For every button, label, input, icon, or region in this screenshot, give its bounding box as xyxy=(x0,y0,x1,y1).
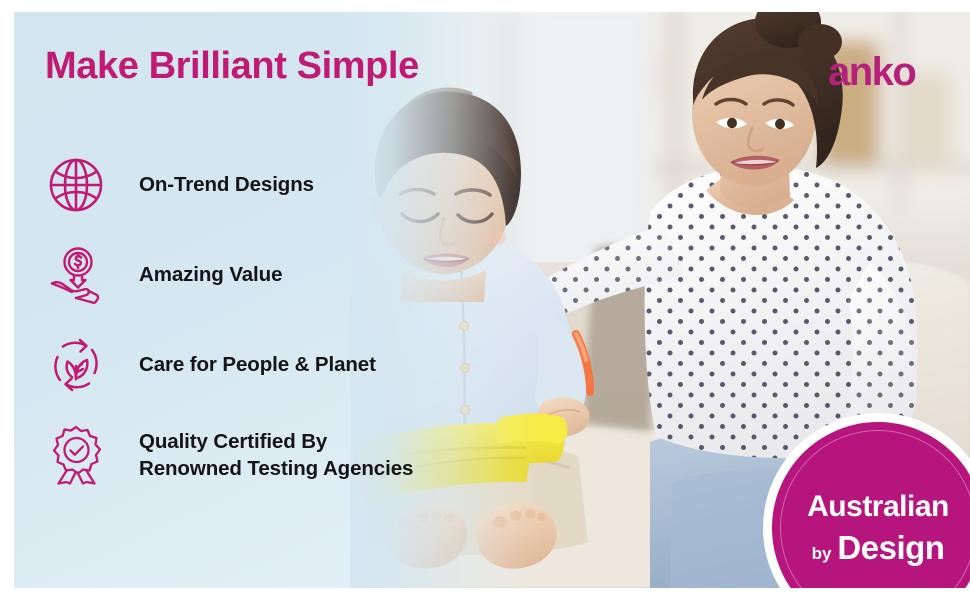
recycle-leaf-icon xyxy=(45,334,107,396)
anko-brand-banner: Make Brilliant Simple anko On-Tre xyxy=(0,0,970,600)
badge-word-design: Design xyxy=(837,531,944,564)
badge-line-by-design: by Design xyxy=(812,531,945,564)
feature-item-quality-certified: Quality Certified ByRenowned Testing Age… xyxy=(45,410,465,500)
badge-line-australian: Australian xyxy=(807,492,949,522)
badge-word-by: by xyxy=(812,545,832,562)
feature-list: On-Trend Designs Ama xyxy=(45,140,465,500)
feature-item-amazing-value: Amazing Value xyxy=(45,230,465,320)
banner-canvas: Make Brilliant Simple anko On-Tre xyxy=(14,12,970,588)
feature-item-care-for-people-and-planet: Care for People & Planet xyxy=(45,320,465,410)
feature-item-on-trend-designs: On-Trend Designs xyxy=(45,140,465,230)
feature-label: On-Trend Designs xyxy=(139,171,314,198)
globe-icon xyxy=(45,154,107,216)
feature-label: Care for People & Planet xyxy=(139,351,376,378)
coin-hand-icon xyxy=(45,244,107,306)
feature-label-line1: Quality Certified By xyxy=(139,430,327,453)
badge-text: Australian by Design xyxy=(763,413,970,588)
anko-logo-text: anko xyxy=(828,50,948,94)
feature-label-line2: Renowned Testing Agencies xyxy=(139,457,413,480)
feature-label: Quality Certified ByRenowned Testing Age… xyxy=(139,428,413,483)
australian-by-design-badge: Australian by Design xyxy=(763,413,970,588)
award-ribbon-icon xyxy=(45,424,107,486)
anko-logo: anko xyxy=(828,50,948,94)
page-title: Make Brilliant Simple xyxy=(45,45,419,88)
feature-label: Amazing Value xyxy=(139,261,282,288)
